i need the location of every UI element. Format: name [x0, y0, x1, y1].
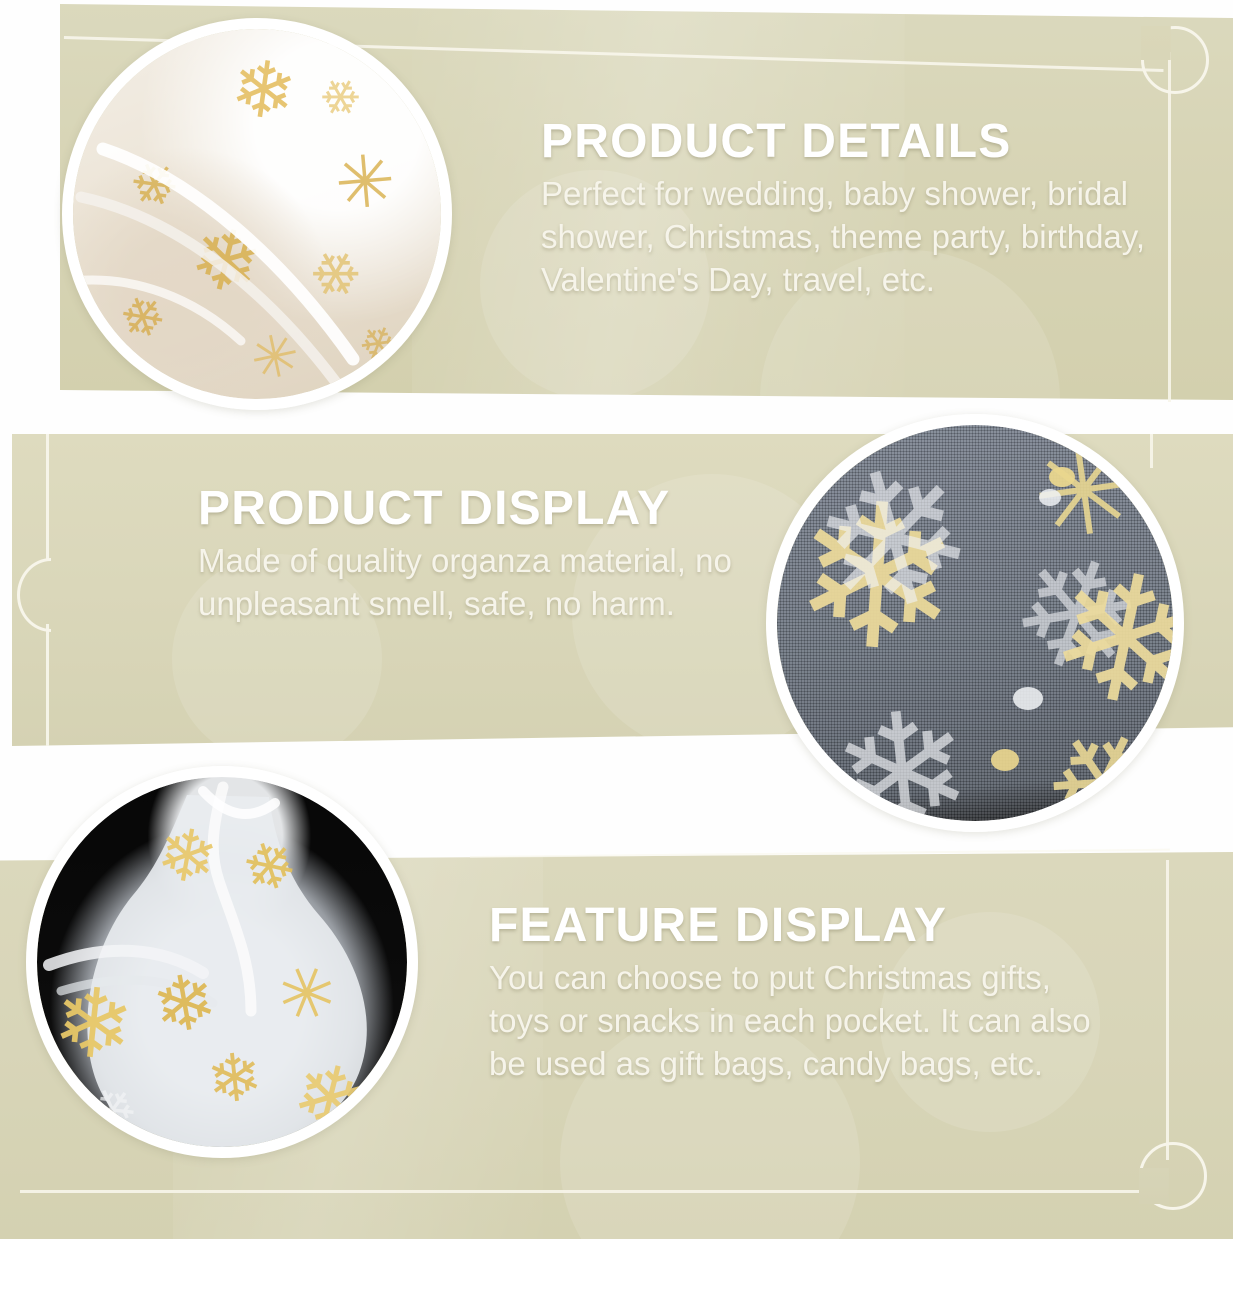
white-dot [1013, 687, 1043, 710]
photo-image: ❄ ❄ ❄ ❄ ✳ ❄ ❄ ❄ [37, 777, 407, 1147]
panel-bottom-hairline [20, 1190, 1168, 1193]
text-block-feature-display: FEATURE DISPLAY You can choose to put Ch… [489, 898, 1109, 1086]
text-block-product-display: PRODUCT DISPLAY Made of quality organza … [198, 481, 758, 626]
drawstring-pouch-photo: ❄ ❄ ❄ ❄ ✳ ❄ ❄ ❄ [26, 766, 418, 1158]
page-title-feature-display: FEATURE DISPLAY [489, 898, 1109, 953]
body-text-product-display: Made of quality organza material, no unp… [198, 540, 758, 626]
snowflake-icon: ❄ [48, 973, 138, 1077]
gold-dot [991, 749, 1019, 771]
snowflake-icon: ❄ [147, 962, 223, 1048]
photo-image: ❄ ❄ ❄ ✳ ❄ ❄ ❄ ✳ ❄ [73, 29, 441, 399]
snowflake-icon: ❄ [825, 686, 981, 821]
photo-image: ❄ ❄ ❄ ✳ ❄ ❄ ❄ [777, 425, 1173, 821]
page-title-product-details: PRODUCT DETAILS [541, 114, 1161, 169]
panel-right-hairline [1168, 52, 1171, 402]
page-title-product-display: PRODUCT DISPLAY [198, 481, 758, 536]
panel-right-hairline [1166, 860, 1169, 1160]
infographic-canvas: ❄ ❄ ❄ ✳ ❄ ❄ ❄ ✳ ❄ PRODUCT DETAILS Perfec… [0, 0, 1233, 1239]
ribbon-overlay [73, 29, 441, 399]
body-text-feature-display: You can choose to put Christmas gifts, t… [489, 957, 1109, 1086]
snowflake-icon: ❄ [151, 816, 223, 897]
stacked-organza-bags-photo: ❄ ❄ ❄ ✳ ❄ ❄ ❄ ✳ ❄ [62, 18, 452, 410]
panel-right-hairline [1150, 434, 1153, 468]
panel-left-hairline-lower [46, 624, 49, 746]
text-block-product-details: PRODUCT DETAILS Perfect for wedding, bab… [541, 114, 1161, 302]
body-text-product-details: Perfect for wedding, baby shower, bridal… [541, 173, 1161, 302]
white-dot [1039, 489, 1061, 506]
organza-mesh-closeup-photo: ❄ ❄ ❄ ✳ ❄ ❄ ❄ [766, 414, 1184, 832]
gold-dot [1049, 467, 1075, 487]
snowflake-icon: ❄ [204, 1042, 266, 1113]
panel-left-hairline-upper [46, 434, 49, 560]
